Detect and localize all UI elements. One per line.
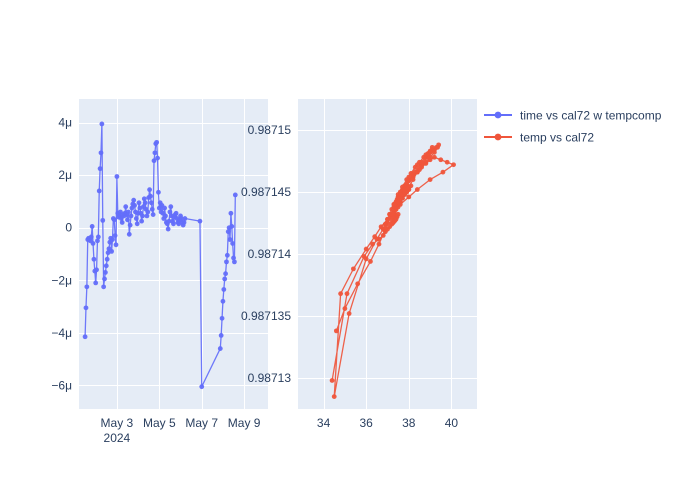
data-point	[89, 235, 94, 240]
data-point	[347, 311, 352, 316]
data-point	[232, 259, 237, 264]
data-point	[162, 206, 167, 211]
data-point	[147, 187, 152, 192]
data-point	[139, 219, 144, 224]
data-point	[402, 192, 407, 197]
data-point	[438, 157, 443, 162]
data-point	[154, 140, 159, 145]
data-point	[113, 233, 118, 238]
x-tick-label: 34	[317, 416, 331, 430]
data-point	[135, 221, 140, 226]
data-point	[102, 277, 107, 282]
data-point	[411, 177, 416, 182]
data-point	[383, 222, 388, 227]
x-tick-label: 40	[445, 416, 459, 430]
data-point	[389, 207, 394, 212]
data-point	[368, 259, 373, 264]
data-point	[126, 210, 131, 215]
legend: time vs cal72 w tempcomptemp vs cal72	[484, 109, 662, 145]
data-point	[451, 162, 456, 167]
y-tick-label: −4μ	[51, 326, 72, 340]
data-point	[377, 242, 382, 247]
data-point	[332, 394, 337, 399]
data-point	[143, 200, 148, 205]
data-point	[334, 328, 339, 333]
data-point	[221, 287, 226, 292]
data-point	[99, 150, 104, 155]
data-point	[364, 257, 369, 262]
y-tick-label: 4μ	[58, 116, 72, 130]
data-point	[155, 156, 160, 161]
x-tick-label: 38	[402, 416, 416, 430]
data-point	[374, 237, 379, 242]
data-point	[383, 227, 388, 232]
chart-canvas: 4μ2μ0−2μ−4μ−6μMay 32024May 5May 7May 90.…	[0, 0, 700, 500]
data-point	[415, 187, 420, 192]
data-point	[219, 333, 224, 338]
data-point	[434, 145, 439, 150]
data-point	[134, 216, 139, 221]
data-point	[84, 305, 89, 310]
data-point	[222, 277, 227, 282]
data-point	[125, 217, 130, 222]
data-point	[105, 257, 110, 262]
data-point	[166, 227, 171, 232]
data-point	[389, 212, 394, 217]
legend-marker-1	[495, 134, 502, 141]
data-point	[330, 378, 335, 383]
data-point	[149, 200, 154, 205]
subplot-right: 0.987150.9871450.987140.9871350.98713343…	[241, 99, 477, 430]
data-point	[103, 270, 108, 275]
data-point	[428, 150, 433, 155]
data-point	[415, 170, 420, 175]
data-point	[402, 187, 407, 192]
data-point	[84, 284, 89, 289]
y-tick-label: 0	[65, 221, 72, 235]
data-point	[423, 161, 428, 166]
data-point	[123, 204, 128, 209]
data-point	[110, 237, 115, 242]
data-point	[120, 220, 125, 225]
data-point	[127, 232, 132, 237]
data-point	[228, 211, 233, 216]
data-point	[441, 170, 446, 175]
data-point	[129, 214, 134, 219]
data-point	[168, 204, 173, 209]
x-tick-label: May 9	[228, 416, 261, 430]
data-point	[391, 202, 396, 207]
data-point	[128, 223, 133, 228]
y-tick-label: 0.987135	[241, 309, 291, 323]
data-point	[174, 211, 179, 216]
data-point	[385, 217, 390, 222]
data-point	[94, 267, 99, 272]
legend-label-0: time vs cal72 w tempcomp	[520, 109, 662, 123]
data-point	[345, 291, 350, 296]
plotly-figure: 4μ2μ0−2μ−4μ−6μMay 32024May 5May 7May 90.…	[0, 0, 700, 500]
legend-label-1: temp vs cal72	[520, 131, 594, 145]
data-point	[101, 284, 106, 289]
data-point	[83, 334, 88, 339]
data-point	[224, 259, 229, 264]
x-tick-label: 36	[360, 416, 374, 430]
data-point	[225, 253, 230, 258]
data-point	[93, 281, 98, 286]
data-point	[98, 166, 103, 171]
data-point	[396, 192, 401, 197]
data-point	[199, 384, 204, 389]
data-point	[413, 165, 418, 170]
data-point	[90, 224, 95, 229]
data-point	[104, 263, 109, 268]
data-point	[223, 271, 228, 276]
data-point	[131, 198, 136, 203]
y-tick-label: 0.987145	[241, 185, 291, 199]
data-point	[92, 257, 97, 262]
data-point	[428, 177, 433, 182]
data-point	[406, 185, 411, 190]
data-point	[96, 235, 101, 240]
y-tick-label: 0.98713	[248, 371, 292, 385]
data-point	[218, 346, 223, 351]
data-point	[396, 200, 401, 205]
data-point	[100, 218, 105, 223]
y-tick-label: −6μ	[51, 378, 72, 392]
data-point	[91, 241, 96, 246]
data-point	[220, 316, 225, 321]
data-point	[151, 212, 156, 217]
data-point	[99, 122, 104, 127]
legend-marker-0	[495, 112, 502, 119]
data-point	[428, 157, 433, 162]
data-point	[198, 219, 203, 224]
data-point	[230, 241, 235, 246]
data-point	[419, 160, 424, 165]
data-point	[221, 299, 226, 304]
data-point	[163, 214, 168, 219]
x-tick-label: May 3	[101, 416, 134, 430]
data-point	[394, 207, 399, 212]
data-point	[342, 306, 347, 311]
data-point	[406, 195, 411, 200]
data-point	[233, 192, 238, 197]
data-point	[137, 200, 142, 205]
data-point	[97, 189, 102, 194]
legend-item-0[interactable]: time vs cal72 w tempcomp	[484, 109, 662, 123]
data-point	[115, 174, 120, 179]
legend-item-1[interactable]: temp vs cal72	[484, 131, 594, 145]
data-point	[114, 242, 119, 247]
data-point	[404, 177, 409, 182]
x-tick-label: May 5	[143, 416, 176, 430]
data-point	[156, 190, 161, 195]
data-point	[445, 160, 450, 165]
data-point	[183, 216, 188, 221]
data-point	[421, 155, 426, 160]
x-tick-label: May 7	[185, 416, 218, 430]
data-point	[112, 217, 117, 222]
data-point	[229, 224, 234, 229]
data-point	[150, 207, 155, 212]
data-point	[411, 172, 416, 177]
data-point	[351, 266, 356, 271]
subplot-left: 4μ2μ0−2μ−4μ−6μMay 32024May 5May 7May 9	[51, 99, 268, 445]
x-tick-sublabel: 2024	[104, 431, 131, 445]
y-tick-label: 0.98715	[248, 123, 292, 137]
data-point	[364, 247, 369, 252]
data-point	[228, 237, 233, 242]
data-point	[152, 150, 157, 155]
y-tick-label: −2μ	[51, 273, 72, 287]
data-point	[432, 155, 437, 160]
data-point	[140, 214, 145, 219]
y-tick-label: 2μ	[58, 168, 72, 182]
data-point	[145, 210, 150, 215]
y-tick-label: 0.98714	[248, 247, 292, 261]
data-point	[338, 291, 343, 296]
data-point	[355, 281, 360, 286]
data-point	[132, 203, 137, 208]
data-point	[171, 221, 176, 226]
data-point	[370, 242, 375, 247]
data-point	[148, 194, 153, 199]
data-point	[109, 249, 114, 254]
